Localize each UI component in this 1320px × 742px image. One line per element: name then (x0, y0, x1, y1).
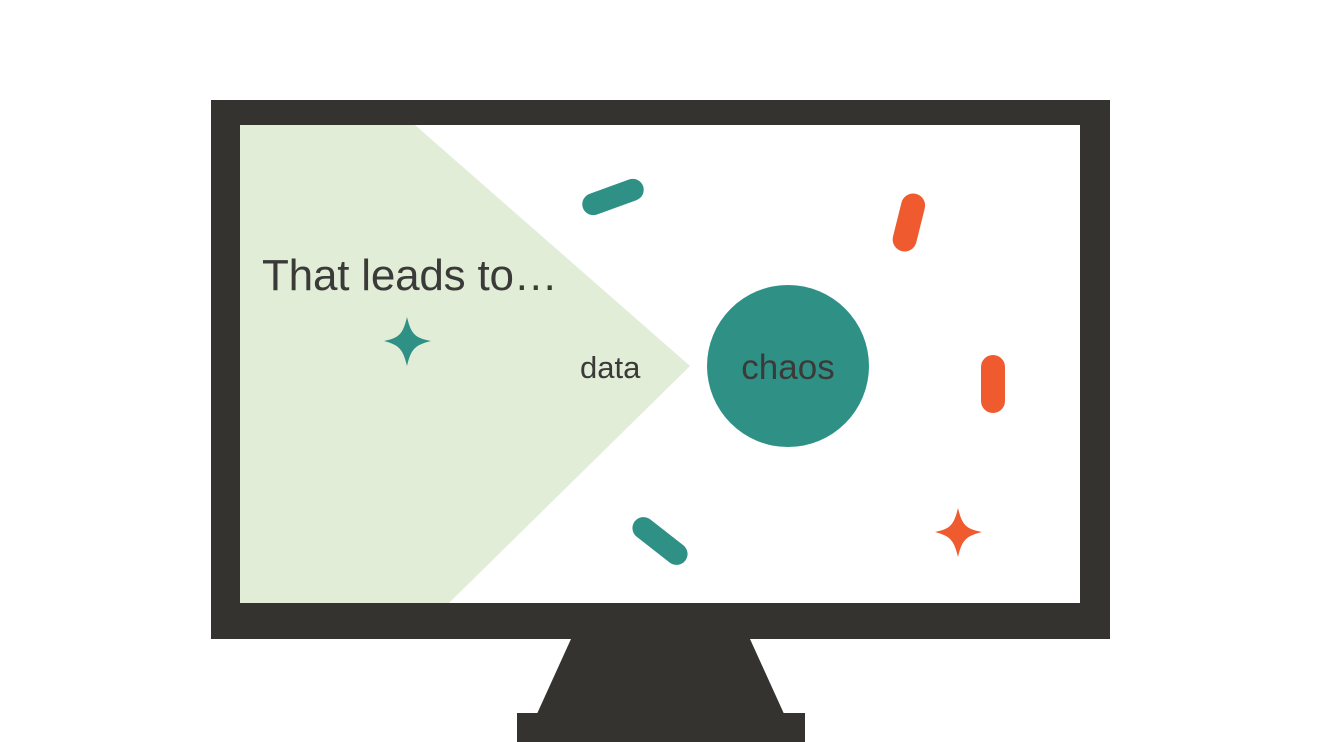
orange-capsule-middle-right (981, 355, 1005, 413)
chaos-bubble-label: chaos (741, 348, 834, 387)
monitor-stand-base (517, 713, 805, 742)
data-arrow-label: data (580, 350, 641, 385)
illustration-canvas: That leads to… data chaos (0, 0, 1320, 742)
screen-headline: That leads to… (262, 251, 558, 300)
monitor-illustration: That leads to… data chaos (0, 0, 1320, 742)
